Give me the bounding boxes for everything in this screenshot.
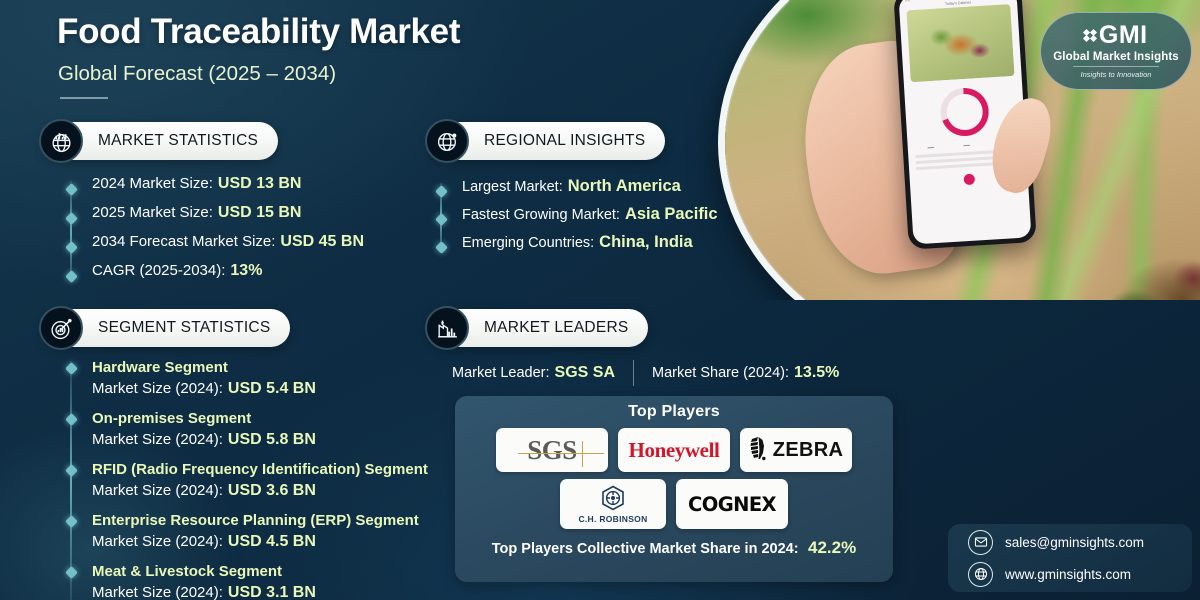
segment-name: Enterprise Resource Planning (ERP) Segme…: [92, 512, 419, 529]
zebra-logo-text: ZEBRA: [773, 439, 843, 462]
segment-item: RFID (Radio Frequency Identification) Se…: [70, 457, 428, 508]
honeywell-logo-text: Honeywell: [629, 438, 720, 463]
logo-row-1: SGS Honeywell: [455, 428, 893, 472]
market-leaders-row: Market Leader: SGS SA Market Share (2024…: [452, 360, 892, 386]
node-marker-icon: [65, 464, 78, 477]
segment-item: Meat & Livestock Segment Market Size (20…: [70, 559, 428, 600]
app-calorie-ring: [939, 87, 990, 138]
regional-insights-list: Largest Market: North America Fastest Gr…: [440, 177, 718, 261]
node-marker-icon: [65, 270, 78, 283]
app-food-photo: [906, 4, 1014, 82]
email-text: sales@gminsights.com: [1005, 535, 1144, 550]
market-share-cell: Market Share (2024): 13.5%: [652, 364, 839, 382]
stat-row: CAGR (2025-2034): 13%: [70, 262, 364, 291]
gmi-logo-top: GMI: [1084, 23, 1147, 48]
segment-statistics-list: Hardware Segment Market Size (2024): USD…: [70, 355, 428, 600]
sgs-logo-text: SGS: [527, 437, 577, 464]
segment-name: Meat & Livestock Segment: [92, 563, 282, 580]
stat-key: Largest Market:: [462, 179, 563, 195]
stat-row: Emerging Countries: China, India: [440, 233, 718, 261]
segment-item: Hardware Segment Market Size (2024): USD…: [70, 355, 428, 406]
stat-key: 2024 Market Size:: [92, 175, 213, 192]
segment-size-key: Market Size (2024):: [92, 584, 223, 600]
zebra-logo[interactable]: ZEBRA: [740, 428, 852, 472]
stat-row: 2025 Market Size: USD 15 BN: [70, 204, 364, 233]
cognex-logo[interactable]: COGNEX: [676, 479, 788, 529]
sgs-logo[interactable]: SGS: [496, 428, 608, 472]
segment-size-value: USD 3.6 BN: [228, 482, 316, 500]
segment-name: RFID (Radio Frequency Identification) Se…: [92, 461, 428, 478]
node-marker-icon: [65, 566, 78, 579]
segment-size-key: Market Size (2024):: [92, 482, 223, 499]
target-chart-icon: [39, 306, 83, 350]
market-leader-cell: Market Leader: SGS SA: [452, 364, 615, 382]
segment-item: Enterprise Resource Planning (ERP) Segme…: [70, 508, 428, 559]
section-header-market-leaders: MARKET LEADERS: [428, 309, 648, 347]
node-marker-icon: [435, 241, 448, 254]
page-title: Food Traceability Market: [57, 12, 460, 52]
factory-chart-icon: [425, 306, 469, 350]
collective-key: Top Players Collective Market Share in 2…: [492, 541, 799, 557]
contact-block: sales@gminsights.com www.gminsights.com: [948, 524, 1192, 592]
stat-key: CAGR (2025-2034):: [92, 262, 225, 279]
node-marker-icon: [65, 413, 78, 426]
leader-value: SGS SA: [555, 364, 615, 382]
infographic-canvas: 9:41▮▮▮ Today's Calories ▬▬▬▬▬▬: [0, 0, 1200, 600]
diamond-cluster-icon: [1084, 30, 1096, 42]
share-key: Market Share (2024):: [652, 365, 789, 381]
leader-key: Market Leader:: [452, 365, 550, 381]
globe-icon: [968, 562, 993, 587]
segment-name: Hardware Segment: [92, 359, 228, 376]
honeywell-logo[interactable]: Honeywell: [618, 428, 730, 472]
gmi-tagline: Insights to Innovation: [1073, 66, 1159, 79]
hexagon-wheel-icon: [600, 485, 626, 511]
stat-value: USD 15 BN: [218, 204, 302, 222]
envelope-icon: [968, 530, 993, 555]
node-marker-icon: [65, 362, 78, 375]
gmi-brand-name: GMI: [1099, 23, 1148, 48]
collective-share-row: Top Players Collective Market Share in 2…: [455, 538, 893, 558]
segment-size-value: USD 4.5 BN: [228, 533, 316, 551]
website-row[interactable]: www.gminsights.com: [968, 562, 1192, 587]
stat-key: 2034 Forecast Market Size:: [92, 233, 275, 250]
stat-row: 2034 Forecast Market Size: USD 45 BN: [70, 233, 364, 262]
stat-value: USD 13 BN: [218, 175, 302, 193]
node-marker-icon: [65, 212, 78, 225]
collective-value: 42.2%: [808, 538, 856, 557]
ch-robinson-logo[interactable]: C.H. ROBINSON: [560, 479, 666, 529]
stat-key: Emerging Countries:: [462, 235, 594, 251]
share-value: 13.5%: [794, 364, 839, 382]
vertical-divider: [633, 360, 634, 386]
page-subtitle: Global Forecast (2025 – 2034): [58, 62, 336, 86]
email-row[interactable]: sales@gminsights.com: [968, 530, 1192, 555]
title-underline: [60, 97, 108, 99]
segment-size-key: Market Size (2024):: [92, 380, 223, 397]
section-label: SEGMENT STATISTICS: [98, 319, 270, 337]
segment-size-value: USD 5.8 BN: [228, 431, 316, 449]
app-action-button[interactable]: [963, 174, 975, 186]
node-marker-icon: [65, 515, 78, 528]
segment-name: On-premises Segment: [92, 410, 251, 427]
node-marker-icon: [65, 183, 78, 196]
segment-item: On-premises Segment Market Size (2024): …: [70, 406, 428, 457]
section-header-market-statistics: MARKET STATISTICS: [42, 122, 278, 160]
section-label: REGIONAL INSIGHTS: [484, 132, 645, 150]
stat-key: 2025 Market Size:: [92, 204, 213, 221]
gmi-brand-full-name: Global Market Insights: [1053, 51, 1179, 63]
stat-row: Largest Market: North America: [440, 177, 718, 205]
node-marker-icon: [65, 241, 78, 254]
segment-size-key: Market Size (2024):: [92, 533, 223, 550]
stat-value: USD 45 BN: [280, 233, 364, 251]
stat-value: North America: [568, 177, 681, 196]
ch-robinson-logo-text: C.H. ROBINSON: [578, 514, 647, 524]
stat-key: Fastest Growing Market:: [462, 207, 620, 223]
stat-value: Asia Pacific: [625, 205, 718, 224]
globe-chart-icon: [39, 119, 83, 163]
segment-size-value: USD 3.1 BN: [228, 584, 316, 600]
logo-row-2: C.H. ROBINSON COGNEX: [455, 479, 893, 529]
top-players-title: Top Players: [455, 403, 893, 421]
market-statistics-list: 2024 Market Size: USD 13 BN 2025 Market …: [70, 175, 364, 291]
stat-row: Fastest Growing Market: Asia Pacific: [440, 205, 718, 233]
segment-size-key: Market Size (2024):: [92, 431, 223, 448]
section-label: MARKET LEADERS: [484, 319, 628, 337]
website-text: www.gminsights.com: [1005, 567, 1131, 582]
cognex-logo-text: COGNEX: [688, 493, 776, 516]
node-marker-icon: [435, 185, 448, 198]
section-label: MARKET STATISTICS: [98, 132, 258, 150]
top-players-panel: Top Players SGS Honeywell: [455, 396, 893, 582]
section-header-segment-statistics: SEGMENT STATISTICS: [42, 309, 290, 347]
gmi-logo: GMI Global Market Insights Insights to I…: [1040, 12, 1192, 90]
node-marker-icon: [435, 213, 448, 226]
globe-pin-icon: [425, 119, 469, 163]
zebra-head-icon: [749, 437, 769, 463]
section-header-regional-insights: REGIONAL INSIGHTS: [428, 122, 665, 160]
segment-size-value: USD 5.4 BN: [228, 380, 316, 398]
stat-value: 13%: [230, 262, 262, 280]
stat-row: 2024 Market Size: USD 13 BN: [70, 175, 364, 204]
stat-value: China, India: [599, 233, 693, 252]
